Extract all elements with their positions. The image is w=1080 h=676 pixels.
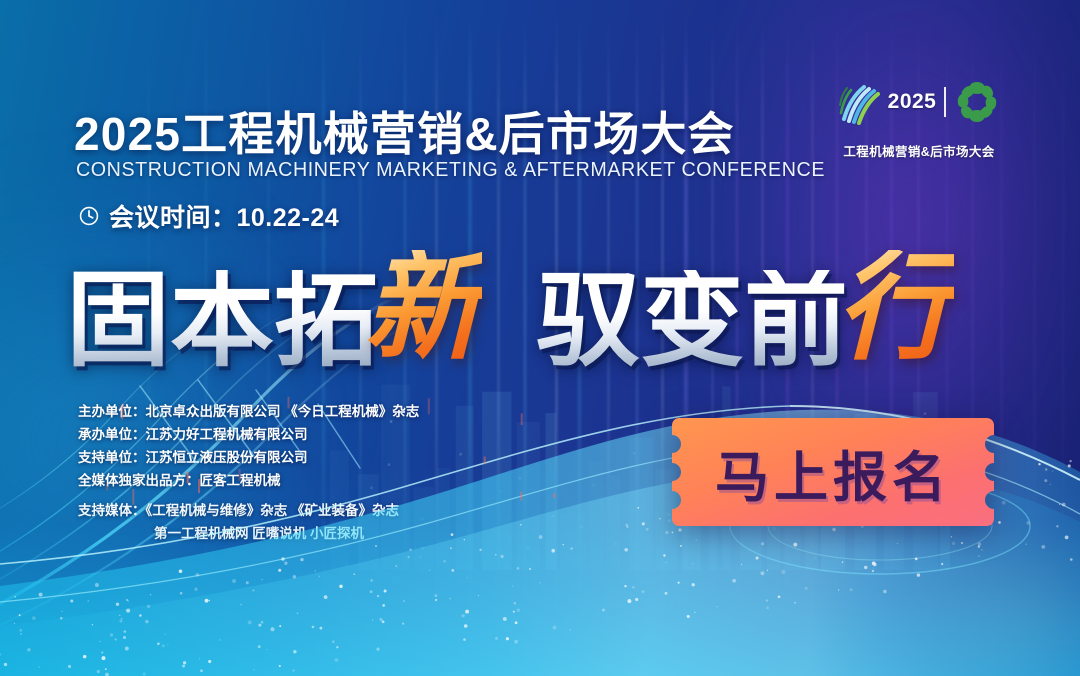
slogan-part-2: 驭变前 bbox=[536, 270, 848, 374]
credit-line: 支持媒体：《工程机械与维修》杂志 《矿业装备》杂志 bbox=[78, 499, 498, 522]
light-streak bbox=[1034, 0, 1035, 676]
conference-poster: 2025 工程机械营销&后市场大会 2025工程机械营销&后市场大会 CONST… bbox=[0, 0, 1080, 676]
conference-logo: 2025 工程机械营销&后市场大会 bbox=[836, 58, 1002, 166]
slogan-accent-1: 新 bbox=[364, 250, 482, 368]
logo-divider bbox=[944, 87, 946, 117]
slogan-block: 固本拓 新 驭变前 行 bbox=[66, 252, 1006, 382]
register-button[interactable]: 马上报名 bbox=[672, 418, 994, 526]
logo-year: 2025 bbox=[888, 90, 937, 114]
clock-icon bbox=[78, 205, 100, 227]
slogan-part-1: 固本拓 bbox=[66, 270, 378, 374]
green-leaf-ring-icon bbox=[954, 79, 1000, 125]
credit-line: 全媒体独家出品方：匠客工程机械 bbox=[78, 469, 498, 492]
credit-line: 第一工程机械网 匠嘴说机 小匠探机 bbox=[78, 522, 498, 545]
credits-block: 主办单位：北京卓众出版有限公司 《今日工程机械》杂志承办单位：江苏力好工程机械有… bbox=[78, 400, 498, 545]
conference-date-row: 会议时间：10.22-24 bbox=[78, 198, 339, 234]
credit-line: 支持单位：江苏恒立液压股份有限公司 bbox=[78, 446, 498, 469]
register-button-label: 马上报名 bbox=[715, 433, 951, 512]
striped-ribbon-icon bbox=[838, 79, 882, 125]
page-subtitle-english: CONSTRUCTION MACHINERY MARKETING & AFTER… bbox=[76, 158, 825, 182]
light-streak bbox=[1062, 0, 1064, 676]
warm-glow bbox=[880, 520, 1080, 676]
credit-line: 承办单位：江苏力好工程机械有限公司 bbox=[78, 423, 498, 446]
page-title: 2025工程机械营销&后市场大会 bbox=[74, 98, 735, 164]
logo-caption: 工程机械营销&后市场大会 bbox=[843, 141, 994, 160]
credit-line: 主办单位：北京卓众出版有限公司 《今日工程机械》杂志 bbox=[78, 400, 498, 423]
slogan-accent-2: 行 bbox=[836, 250, 954, 368]
conference-date: 会议时间：10.22-24 bbox=[109, 198, 339, 234]
